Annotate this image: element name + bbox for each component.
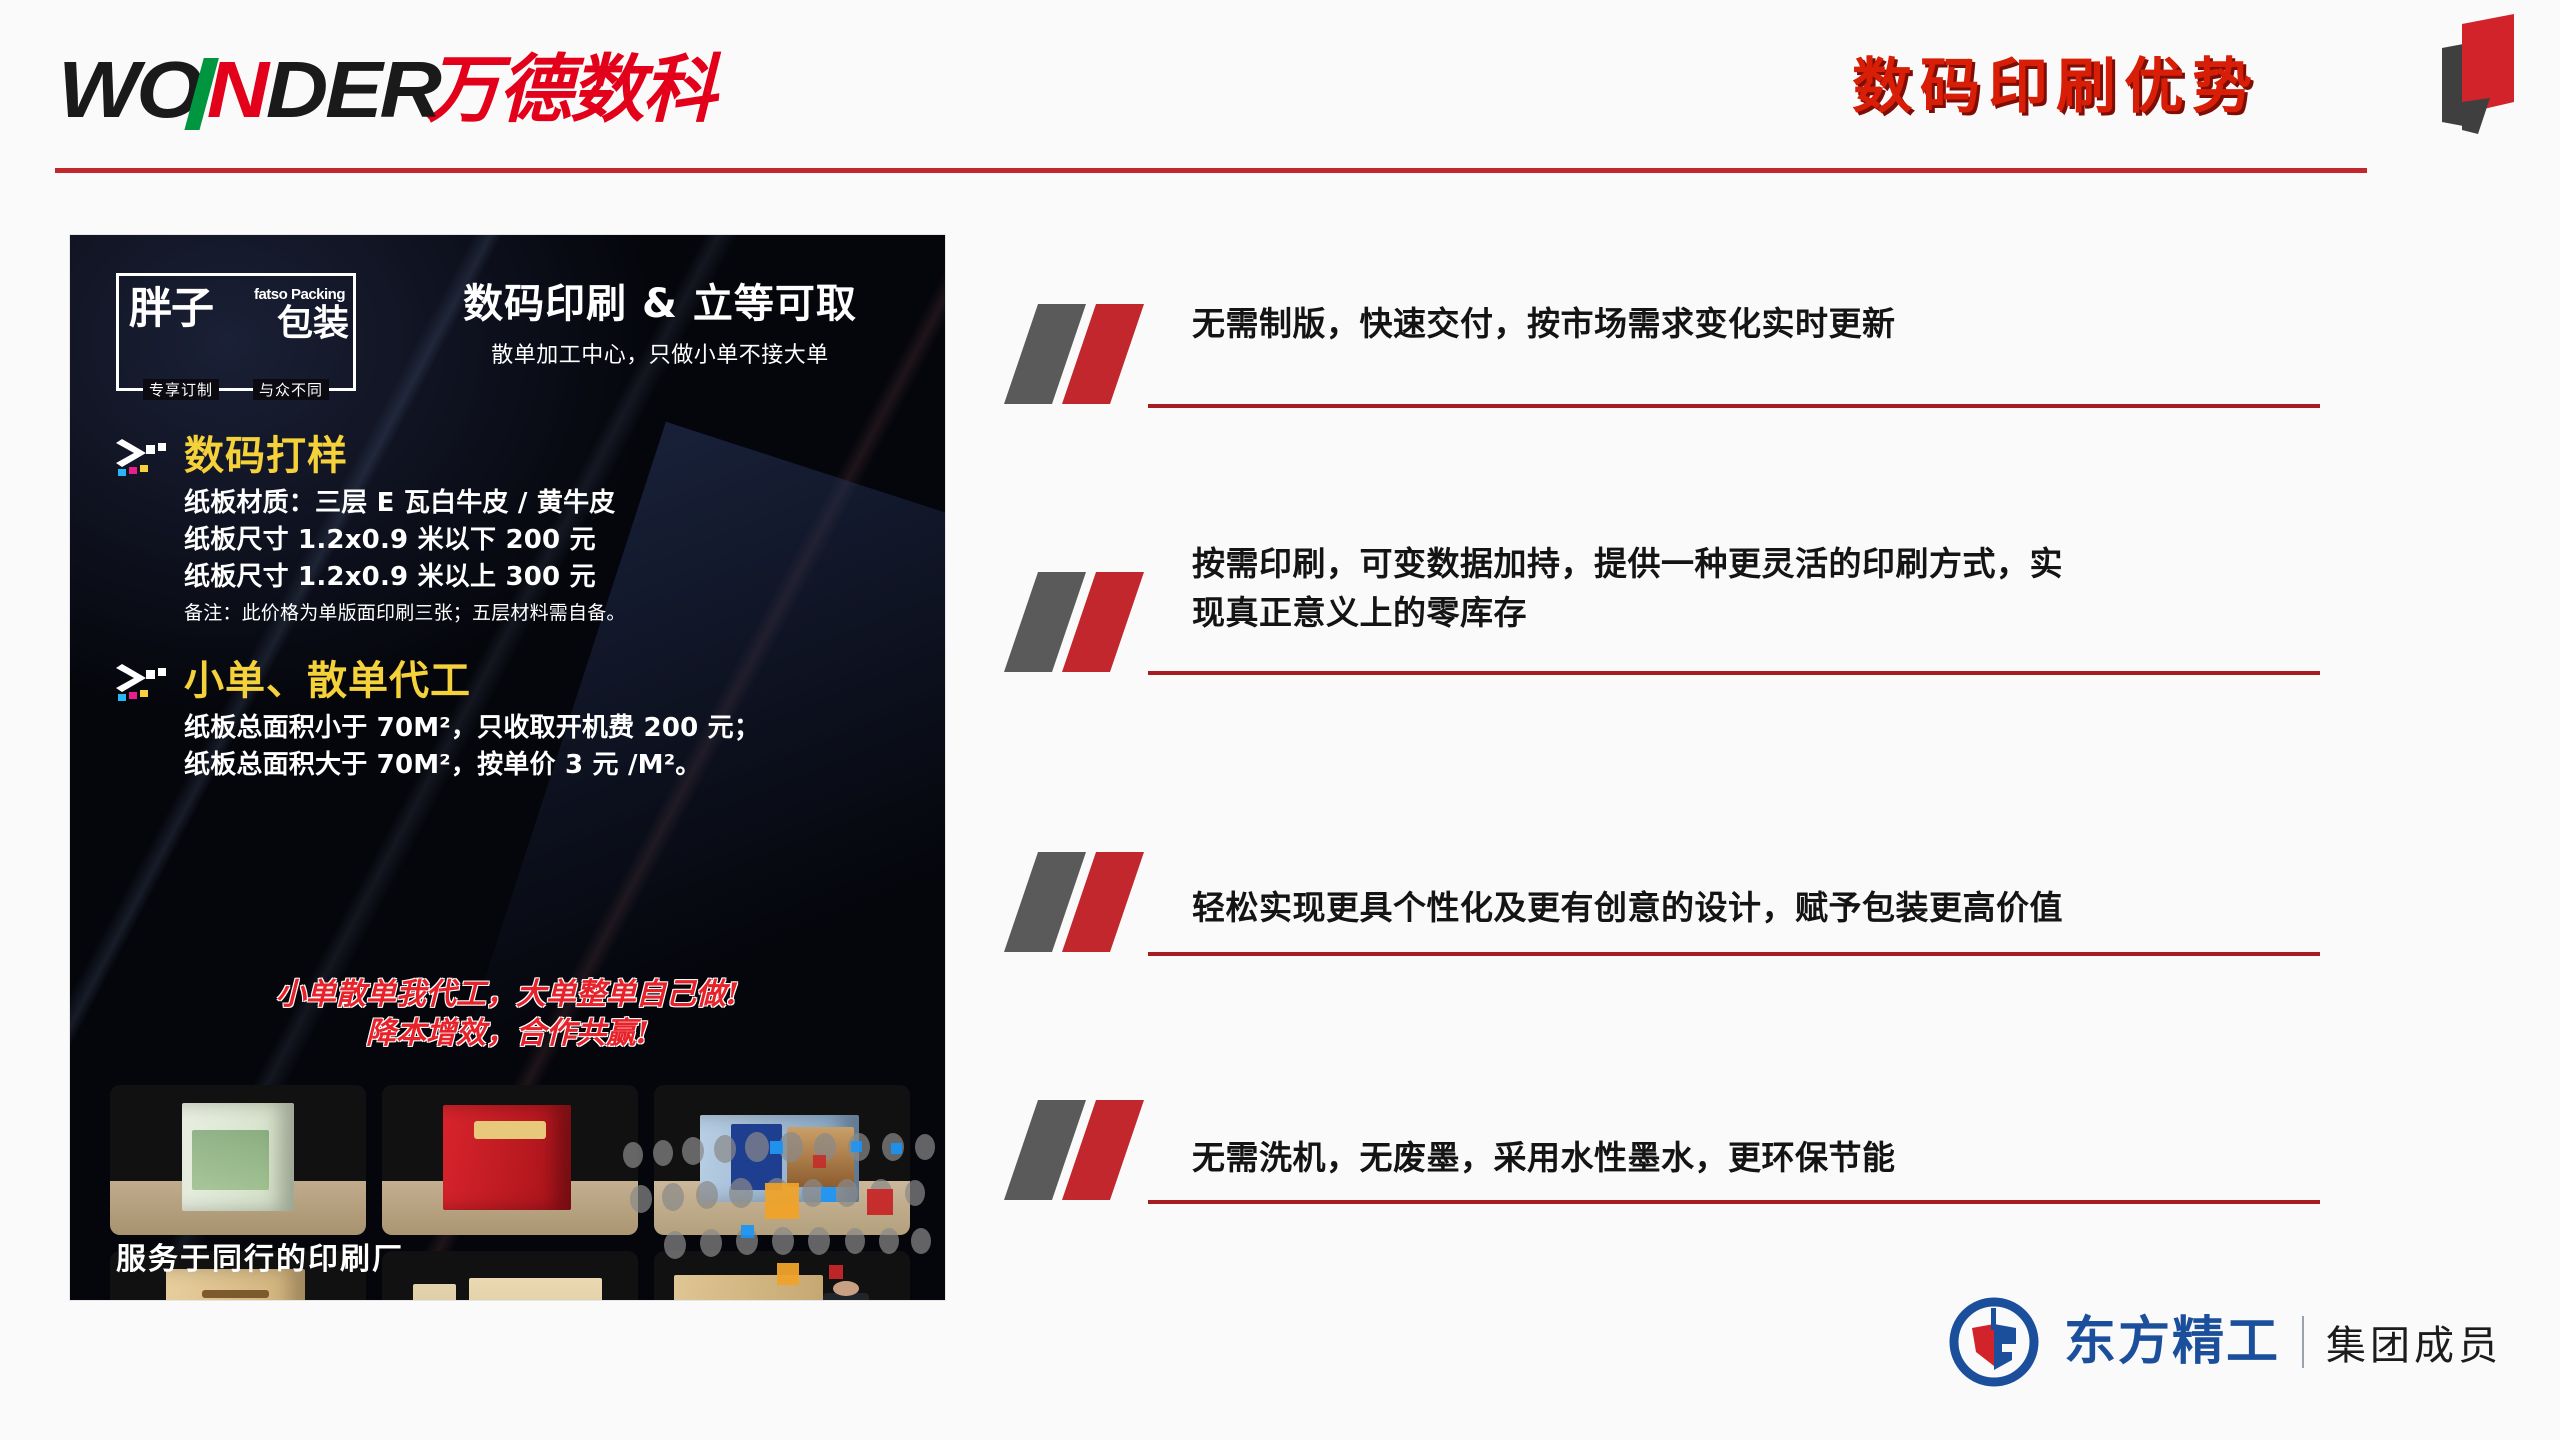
double-slash-marker-icon	[1002, 568, 1172, 676]
advantage-item-3-line-1: 轻松实现更具个性化及更有创意的设计，赋予包装更高价值	[1192, 884, 2362, 933]
classic-tea-box-photo	[382, 1251, 638, 1300]
advantage-item-2-line-2: 现真正意义上的零库存	[1192, 589, 2362, 638]
advantage-item-3-underline	[1148, 952, 2320, 956]
footer-logo-divider	[2302, 1316, 2304, 1368]
poster-brand-tag-left: 专享订制	[143, 379, 219, 400]
slide-root: WONDER 万德数科 数码印刷优势 胖子 fatso Packing 包装 专…	[0, 0, 2560, 1440]
brand-logo-wo: WO	[58, 50, 200, 130]
poster-section-2-title: 小单、散单代工	[184, 661, 471, 701]
red-food-gift-box-photo	[382, 1085, 638, 1235]
poster-dot-pattern-icon	[615, 1125, 945, 1300]
advantage-item-4-line-1: 无需洗机，无废墨，采用水性墨水，更环保节能	[1192, 1134, 2362, 1183]
poster-brand-en: fatso Packing	[254, 286, 345, 303]
corner-block-mark-icon	[2410, 10, 2530, 150]
brand-logo-der: DER	[266, 50, 439, 130]
advantage-item-4-text: 无需洗机，无废墨，采用水性墨水，更环保节能	[1192, 1096, 2362, 1183]
poster-slogan: 小单散单我代工，大单整单自己做! 降本增效，合作共赢!	[70, 975, 945, 1053]
poster-slogan-line-2: 降本增效，合作共赢!	[70, 1014, 945, 1053]
poster-section-1-line-3: 纸板尺寸 1.2x0.9 米以上 300 元	[184, 559, 912, 596]
cmyk-arrow-icon	[112, 435, 170, 477]
advantage-item-1: 无需制版，快速交付，按市场需求变化实时更新	[1002, 300, 2362, 349]
header-divider	[55, 168, 2367, 173]
double-slash-marker-icon	[1002, 1096, 1172, 1204]
poster-headline-group: 数码印刷 & 立等可取 散单加工中心，只做小单不接大单	[400, 281, 920, 369]
poster-section-2-lines: 纸板总面积小于 70M²，只收取开机费 200 元； 纸板总面积大于 70M²，…	[184, 710, 912, 784]
poster-section-digital-proofing: 数码打样 纸板材质：三层 E 瓦白牛皮 / 黄牛皮 纸板尺寸 1.2x0.9 米…	[112, 435, 912, 627]
cmyk-arrow-icon	[112, 660, 170, 702]
advantage-item-2-line-1: 按需印刷，可变数据加持，提供一种更灵活的印刷方式，实	[1192, 540, 2362, 589]
double-slash-marker-icon	[1002, 848, 1172, 956]
poster-section-1-line-2: 纸板尺寸 1.2x0.9 米以下 200 元	[184, 522, 912, 559]
honey-gift-box-photo	[110, 1085, 366, 1235]
poster-brand-tag-right: 与众不同	[253, 379, 329, 400]
group-company-name: 东方精工	[2064, 1316, 2280, 1368]
brand-logo: WONDER 万德数科	[58, 45, 714, 135]
poster-section-2-line-1: 纸板总面积小于 70M²，只收取开机费 200 元；	[184, 710, 912, 747]
brand-logo-chinese: 万德数科	[426, 53, 714, 127]
advantage-item-2-text: 按需印刷，可变数据加持，提供一种更灵活的印刷方式，实 现真正意义上的零库存	[1192, 540, 2362, 638]
poster-section-1-lines: 纸板材质：三层 E 瓦白牛皮 / 黄牛皮 纸板尺寸 1.2x0.9 米以下 20…	[184, 485, 912, 627]
poster-slogan-line-1: 小单散单我代工，大单整单自己做!	[70, 975, 945, 1014]
poster-brand-logo: 胖子 fatso Packing 包装 专享订制 与众不同	[116, 273, 356, 391]
poster-footer-text: 服务于同行的印刷厂	[116, 1234, 404, 1278]
poster-brand-cn-sub: 包装	[277, 306, 349, 342]
dongfang-jingong-circle-icon	[1946, 1294, 2042, 1390]
poster-brand-cn-main: 胖子	[129, 288, 213, 331]
group-member-logo: 东方精工 集团成员	[1946, 1294, 2502, 1390]
advantage-item-1-underline	[1148, 404, 2320, 408]
group-member-label: 集团成员	[2326, 1313, 2502, 1371]
promo-poster-image: 胖子 fatso Packing 包装 专享订制 与众不同 数码印刷 & 立等可…	[70, 235, 945, 1300]
advantage-item-3: 轻松实现更具个性化及更有创意的设计，赋予包装更高价值	[1002, 848, 2362, 933]
advantage-item-2: 按需印刷，可变数据加持，提供一种更灵活的印刷方式，实 现真正意义上的零库存	[1002, 540, 2362, 638]
poster-brand-tags: 专享订制 与众不同	[119, 379, 353, 400]
poster-section-1-note: 备注：此价格为单版面印刷三张；五层材料需自备。	[184, 600, 912, 627]
advantage-item-2-underline	[1148, 671, 2320, 675]
poster-section-2-line-2: 纸板总面积大于 70M²，按单价 3 元 /M²。	[184, 747, 912, 784]
advantage-item-4: 无需洗机，无废墨，采用水性墨水，更环保节能	[1002, 1096, 2362, 1183]
poster-section-1-title: 数码打样	[184, 436, 348, 476]
brand-logo-latin: WONDER	[58, 50, 439, 130]
advantage-item-1-text: 无需制版，快速交付，按市场需求变化实时更新	[1192, 300, 2362, 349]
poster-section-1-title-row: 数码打样	[112, 435, 912, 477]
advantage-item-4-underline	[1148, 1200, 2320, 1204]
poster-section-2-title-row: 小单、散单代工	[112, 660, 912, 702]
poster-subheadline: 散单加工中心，只做小单不接大单	[400, 337, 920, 369]
poster-section-1-line-1: 纸板材质：三层 E 瓦白牛皮 / 黄牛皮	[184, 485, 912, 522]
double-slash-marker-icon	[1002, 300, 1172, 408]
advantage-item-1-line-1: 无需制版，快速交付，按市场需求变化实时更新	[1192, 300, 2362, 349]
poster-headline: 数码印刷 & 立等可取	[400, 281, 920, 327]
page-title: 数码印刷优势	[1852, 38, 2260, 125]
poster-section-small-order-oem: 小单、散单代工 纸板总面积小于 70M²，只收取开机费 200 元； 纸板总面积…	[112, 660, 912, 784]
advantage-item-3-text: 轻松实现更具个性化及更有创意的设计，赋予包装更高价值	[1192, 848, 2362, 933]
